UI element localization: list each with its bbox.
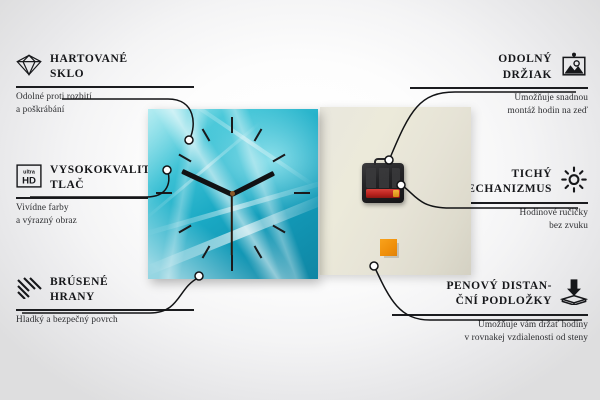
- bevelled-edges-icon: [16, 277, 42, 304]
- picture-hanger-icon: [560, 52, 588, 83]
- diamond-icon: [16, 54, 42, 81]
- wall-clock-face: [148, 109, 318, 279]
- title-line-1: ODOLNÝ: [498, 52, 552, 67]
- title-line-1: HARTOVANÉ: [50, 52, 128, 67]
- hour-tick: [156, 192, 172, 194]
- gear-icon: [560, 166, 588, 198]
- hands-center-pin: [230, 191, 235, 196]
- feature-title: BRÚSENÉ HRANY: [50, 275, 108, 305]
- sub-line-1: Odolné proti rozbití: [16, 91, 194, 104]
- sub-line-1: Umožňuje snadnou: [410, 92, 588, 105]
- feature-title: PENOVÝ DISTAN- ČNÍ PODLOŽKY: [446, 279, 552, 309]
- feature-head: BRÚSENÉ HRANY: [16, 275, 194, 305]
- mechanism-hanger: [374, 158, 392, 165]
- hour-tick: [231, 255, 233, 271]
- hour-tick: [294, 192, 310, 194]
- feature-subtitle: Umožňuje vám držať hodiny v rovnakej vzd…: [392, 319, 588, 345]
- title-line-1: BRÚSENÉ: [50, 275, 108, 290]
- hour-tick: [231, 117, 233, 133]
- foam-spacer-pad: [380, 239, 397, 256]
- feature-head: ODOLNÝ DRŽIAK: [410, 52, 588, 83]
- second-hand: [231, 194, 233, 256]
- mechanism-body: [366, 168, 400, 188]
- divider: [392, 314, 588, 316]
- divider: [16, 309, 194, 311]
- sub-line-1: Hladký a bezpečný povrch: [16, 314, 194, 327]
- divider: [16, 86, 194, 88]
- feature-head: HARTOVANÉ SKLO: [16, 52, 194, 82]
- product-stage: [148, 107, 471, 279]
- feature-bevelled-edges: BRÚSENÉ HRANY Hladký a bezpečný povrch: [16, 275, 194, 327]
- svg-text:HD: HD: [22, 175, 36, 186]
- down-arrow-pad-icon: [560, 278, 588, 310]
- title-line-1: PENOVÝ DISTAN-: [446, 279, 552, 294]
- clock-mechanism: [362, 163, 404, 203]
- sub-line-2: v rovnakej vzdialenosti od steny: [392, 332, 588, 345]
- title-line-2: HRANY: [50, 290, 108, 305]
- battery: [366, 189, 400, 198]
- ultra-hd-icon: ultra HD: [16, 164, 42, 193]
- title-line-2: DRŽIAK: [498, 68, 552, 83]
- title-line-2: SKLO: [50, 67, 128, 82]
- feature-title: ODOLNÝ DRŽIAK: [498, 52, 552, 82]
- title-line-2: ČNÍ PODLOŽKY: [446, 294, 552, 309]
- sub-line-1: Umožňuje vám držať hodiny: [392, 319, 588, 332]
- feature-title: HARTOVANÉ SKLO: [50, 52, 128, 82]
- feature-head: PENOVÝ DISTAN- ČNÍ PODLOŽKY: [392, 278, 588, 310]
- feature-subtitle: Hladký a bezpečný povrch: [16, 314, 194, 327]
- divider: [410, 87, 588, 89]
- feature-foam-spacers: PENOVÝ DISTAN- ČNÍ PODLOŽKY Umožňuje vám…: [392, 278, 588, 345]
